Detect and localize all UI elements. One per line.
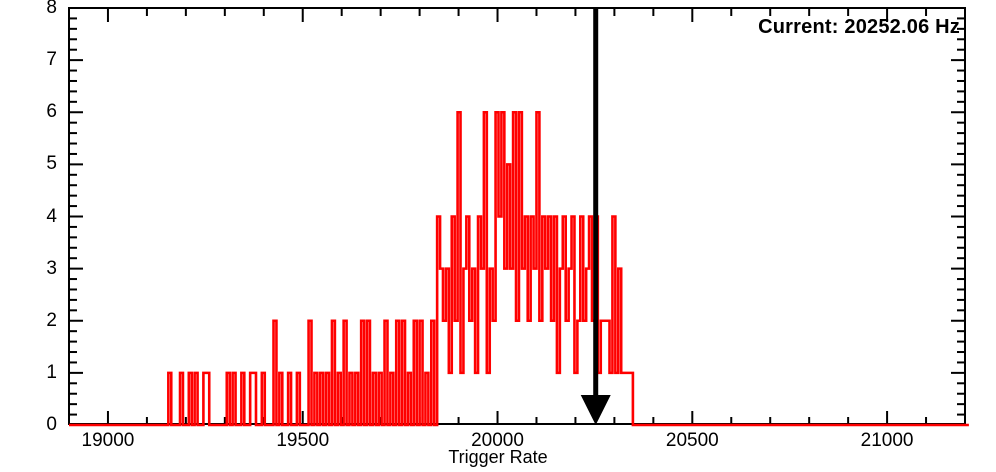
y-tick-label: 5 <box>17 154 57 173</box>
y-tick-label: 2 <box>17 311 57 330</box>
plot-frame <box>68 7 966 425</box>
y-tick-label: 1 <box>17 363 57 382</box>
root-canvas: 012345678 1900019500200002050021000 Curr… <box>0 0 996 472</box>
y-tick-label: 4 <box>17 207 57 226</box>
chart-title: Current: 20252.06 Hz <box>758 16 960 39</box>
x-axis-title: Trigger Rate <box>0 447 996 468</box>
y-tick-label: 8 <box>17 0 57 17</box>
y-tick-label: 3 <box>17 259 57 278</box>
y-tick-label: 6 <box>17 102 57 121</box>
y-tick-label: 0 <box>17 415 57 434</box>
y-tick-label: 7 <box>17 50 57 69</box>
